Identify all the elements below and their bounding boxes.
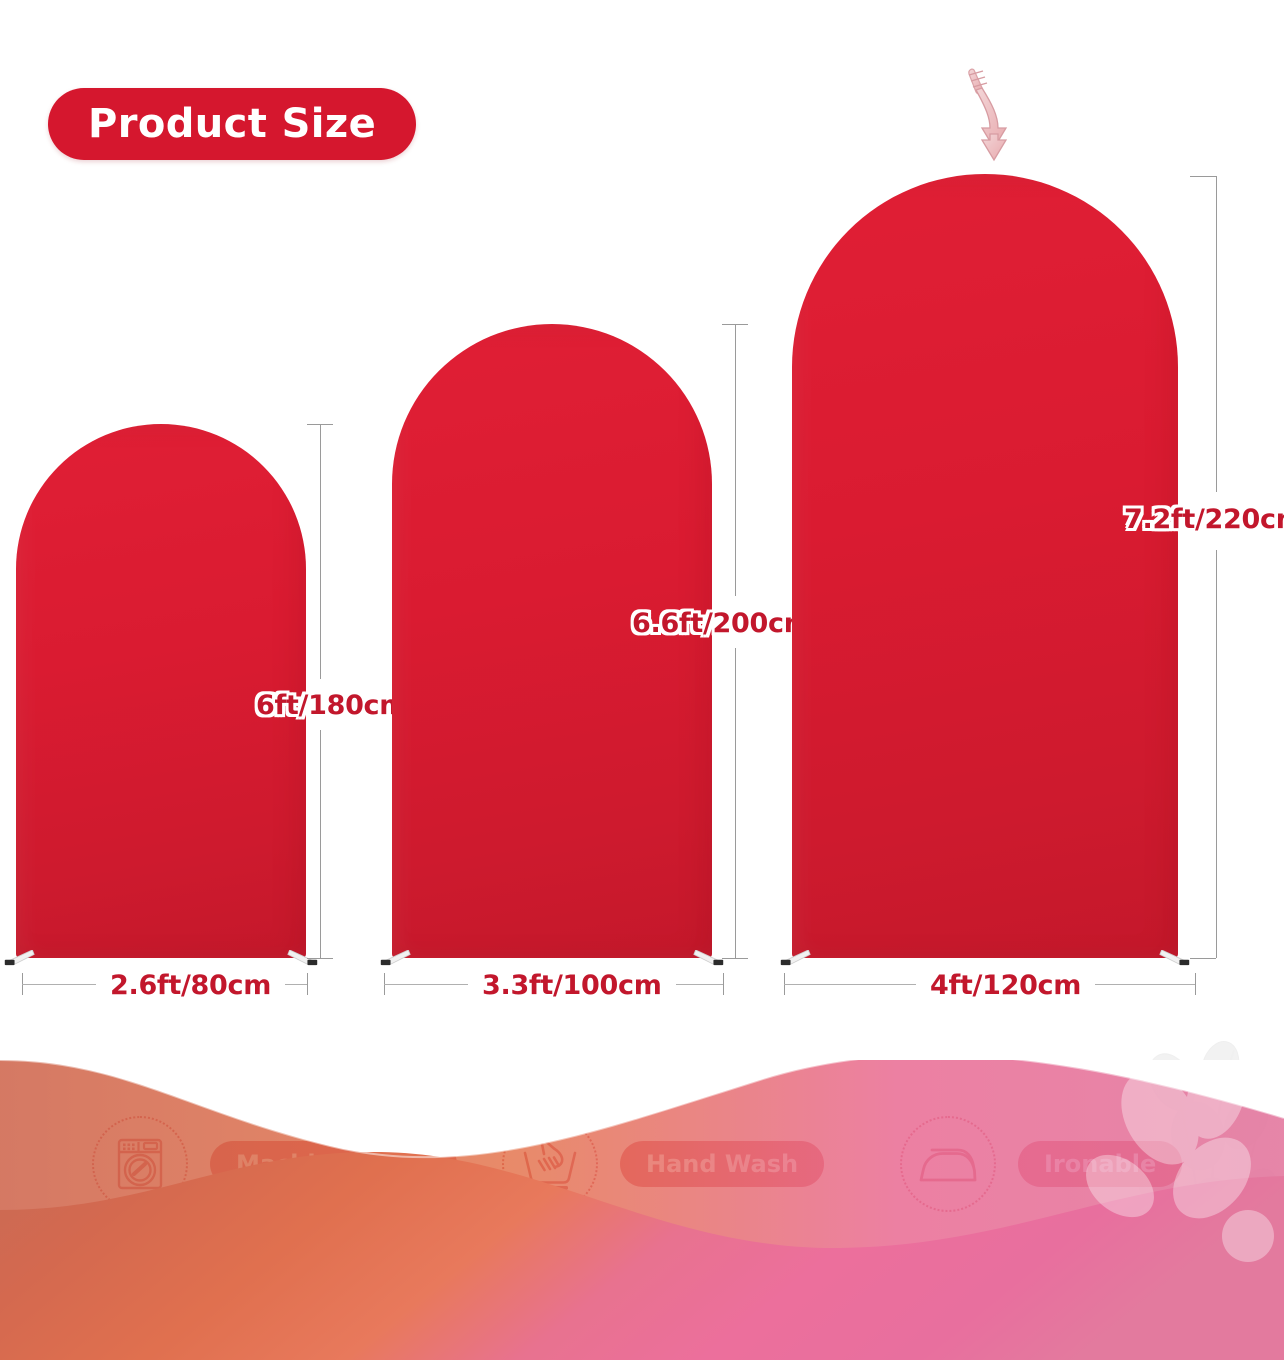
large-height-label: 7.2ft/220cm [1124, 504, 1284, 535]
care-item-hand-wash: Hand Wash [502, 1116, 824, 1212]
ironable-label: Ironable [1044, 1150, 1156, 1178]
machine-wash-label-pill: Machine Wash [210, 1141, 457, 1187]
small-height-line-upper [320, 424, 321, 679]
medium-arch-fabric [392, 324, 712, 958]
machine-wash-icon-circle [92, 1116, 188, 1212]
medium-width-cap-right [723, 973, 724, 995]
ironable-label-pill: Ironable [1018, 1141, 1182, 1187]
small-height-cap-bottom [307, 958, 333, 959]
small-height-line-lower [320, 730, 321, 958]
hand-wash-basin-icon [520, 1135, 580, 1193]
page-title-text: Product Size [88, 104, 376, 144]
medium-height-line-lower [735, 648, 736, 958]
medium-width-label: 3.3ft/100cm [468, 970, 676, 1001]
small-height-label: 6ft/180cm [256, 690, 407, 721]
medium-height-cap-bottom [722, 958, 748, 959]
double-chevron-down-arrow-icon [952, 66, 1022, 186]
care-item-ironable: Ironable [900, 1116, 1182, 1212]
medium-arch-foot-right [692, 950, 726, 966]
hand-wash-label-pill: Hand Wash [620, 1141, 824, 1187]
infographic-canvas: Product Size 6ft/180cm 2.6ft/80cm [0, 0, 1284, 1360]
iron-icon [917, 1140, 979, 1188]
medium-arch-foot-left [378, 950, 412, 966]
large-height-line-upper [1216, 176, 1217, 492]
ironable-icon-circle [900, 1116, 996, 1212]
large-width-label: 4ft/120cm [916, 970, 1095, 1001]
large-height-line-lower [1216, 550, 1217, 958]
large-arch [792, 174, 1178, 958]
large-arch-foot-left [778, 950, 812, 966]
medium-height-line-upper [735, 324, 736, 596]
small-width-label: 2.6ft/80cm [96, 970, 285, 1001]
page-title: Product Size [48, 88, 416, 160]
large-width-cap-right [1195, 973, 1196, 995]
large-height-cap-top [1190, 176, 1216, 177]
small-arch-foot-left [2, 950, 36, 966]
machine-wash-label: Machine Wash [236, 1150, 431, 1178]
large-height-cap-bottom [1190, 958, 1216, 959]
medium-height-label: 6.6ft/200cm [632, 608, 812, 639]
hand-wash-icon-circle [502, 1116, 598, 1212]
small-width-cap-right [307, 973, 308, 995]
large-arch-fabric [792, 174, 1178, 958]
large-arch-foot-right [1158, 950, 1192, 966]
washing-machine-icon [111, 1135, 169, 1193]
care-item-machine-wash: Machine Wash [92, 1116, 457, 1212]
hand-wash-label: Hand Wash [646, 1150, 798, 1178]
medium-arch [392, 324, 712, 958]
